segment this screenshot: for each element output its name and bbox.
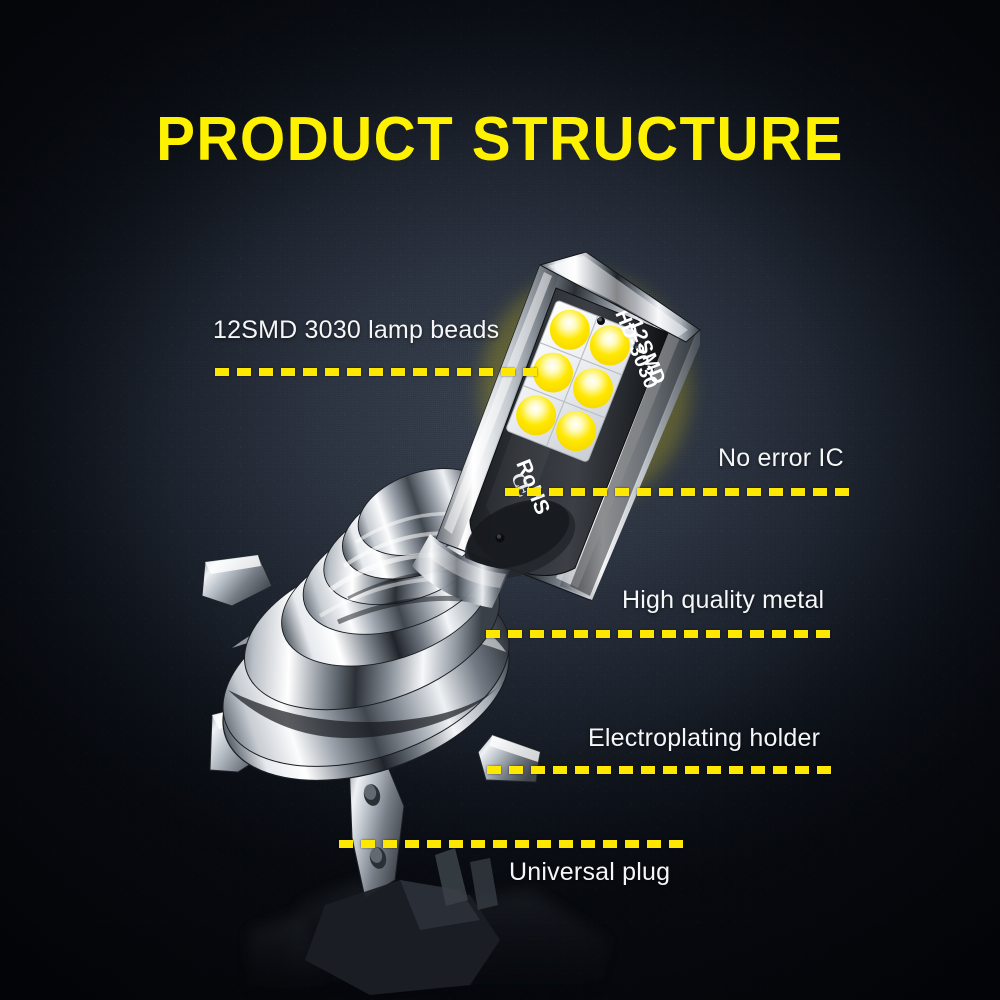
product-structure-infographic: PRODUCT STRUCTURE bbox=[0, 0, 1000, 1000]
callout-label-high-quality-metal: High quality metal bbox=[622, 588, 824, 613]
callout-dash-universal-plug bbox=[339, 840, 686, 848]
callout-dash-smd-beads bbox=[215, 368, 545, 376]
callout-dash-high-quality-metal bbox=[486, 630, 834, 638]
callout-dash-electroplating-holder bbox=[487, 766, 836, 774]
callout-dash-no-error-ic bbox=[505, 488, 857, 496]
callout-label-universal-plug: Universal plug bbox=[509, 860, 670, 885]
callout-label-electroplating-holder: Electroplating holder bbox=[588, 726, 820, 751]
callout-label-smd-beads: 12SMD 3030 lamp beads bbox=[213, 318, 499, 343]
callout-label-no-error-ic: No error IC bbox=[718, 446, 844, 471]
page-title: PRODUCT STRUCTURE bbox=[30, 109, 970, 171]
